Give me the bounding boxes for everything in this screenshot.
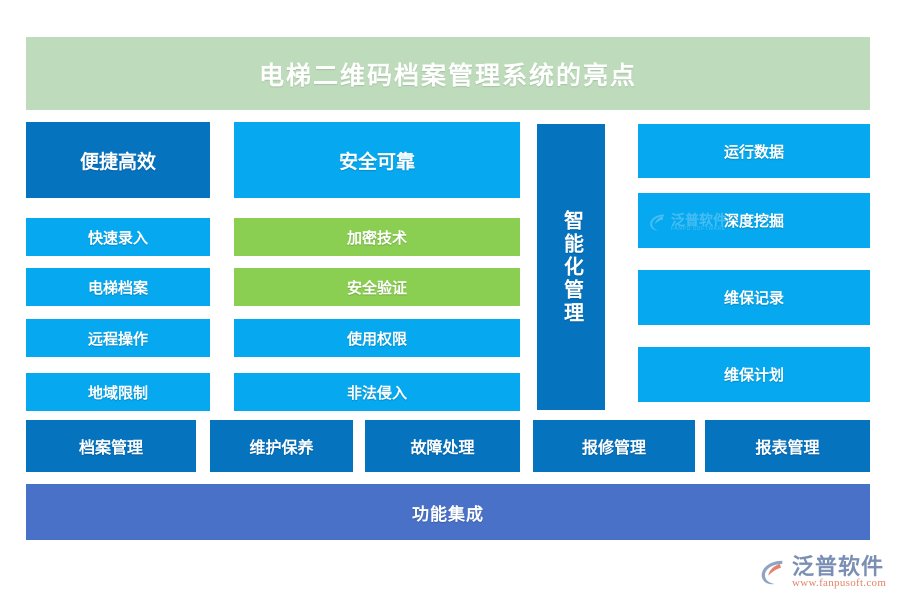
fanpu-swirl-icon: [757, 557, 787, 587]
bottom-module-5[interactable]: 报表管理: [705, 420, 870, 472]
column-2-item-2[interactable]: 安全验证: [234, 268, 520, 306]
brand-logo: 泛普软件 www.fanpusoft.com: [757, 550, 892, 594]
column-2-header[interactable]: 安全可靠: [234, 122, 520, 198]
column-1-item-2[interactable]: 电梯档案: [26, 268, 210, 306]
column-1-item-2-label: 电梯档案: [88, 277, 148, 298]
bottom-module-1[interactable]: 档案管理: [26, 420, 196, 472]
page-title: 电梯二维码档案管理系统的亮点: [259, 56, 637, 92]
brand-name-cn: 泛普软件: [792, 555, 886, 578]
column-1-item-1-label: 快速录入: [88, 227, 148, 248]
brand-text: 泛普软件 www.fanpusoft.com: [792, 555, 886, 590]
column-3-header-label: 运行数据: [724, 141, 784, 162]
bottom-module-2-label: 维护保养: [249, 434, 313, 458]
bottom-module-4-label: 报修管理: [582, 434, 646, 458]
column-3-item-1-label: 深度挖掘: [724, 210, 784, 231]
brand-url: www.fanpusoft.com: [792, 578, 886, 590]
column-3-header[interactable]: 运行数据: [638, 124, 870, 178]
column-1-item-3[interactable]: 远程操作: [26, 319, 210, 357]
column-2-header-label: 安全可靠: [339, 147, 415, 174]
column-3-item-3-label: 维保计划: [724, 364, 784, 385]
column-1-item-4-label: 地域限制: [88, 382, 148, 403]
diagram-canvas: 电梯二维码档案管理系统的亮点 便捷高效 快速录入 电梯档案 远程操作 地域限制 …: [0, 0, 900, 600]
column-1-header[interactable]: 便捷高效: [26, 122, 210, 198]
column-1-item-1[interactable]: 快速录入: [26, 218, 210, 256]
column-2-item-4[interactable]: 非法侵入: [234, 373, 520, 411]
integration-bar-label: 功能集成: [412, 500, 484, 525]
bottom-module-3[interactable]: 故障处理: [365, 420, 520, 472]
column-2-item-1-label: 加密技术: [347, 227, 407, 248]
column-2-item-3[interactable]: 使用权限: [234, 319, 520, 357]
column-2-item-2-label: 安全验证: [347, 277, 407, 298]
bottom-module-2[interactable]: 维护保养: [210, 420, 353, 472]
column-1-header-label: 便捷高效: [80, 147, 156, 174]
title-banner: 电梯二维码档案管理系统的亮点: [26, 37, 870, 110]
column-3-item-2[interactable]: 维保记录: [638, 270, 870, 325]
column-2-item-4-label: 非法侵入: [347, 382, 407, 403]
bottom-module-4[interactable]: 报修管理: [533, 420, 695, 472]
bottom-module-3-label: 故障处理: [410, 434, 474, 458]
vertical-panel-label: 智能化管理: [560, 210, 583, 325]
vertical-panel-intelligent-management[interactable]: 智能化管理: [537, 124, 605, 410]
integration-bar[interactable]: 功能集成: [26, 484, 870, 540]
column-3-item-3[interactable]: 维保计划: [638, 347, 870, 402]
column-2-item-1[interactable]: 加密技术: [234, 218, 520, 256]
column-3-item-1[interactable]: 深度挖掘: [638, 193, 870, 248]
column-1-item-3-label: 远程操作: [88, 328, 148, 349]
bottom-module-1-label: 档案管理: [79, 434, 143, 458]
bottom-module-5-label: 报表管理: [755, 434, 819, 458]
column-1-item-4[interactable]: 地域限制: [26, 373, 210, 411]
column-3-item-2-label: 维保记录: [724, 287, 784, 308]
column-2-item-3-label: 使用权限: [347, 328, 407, 349]
